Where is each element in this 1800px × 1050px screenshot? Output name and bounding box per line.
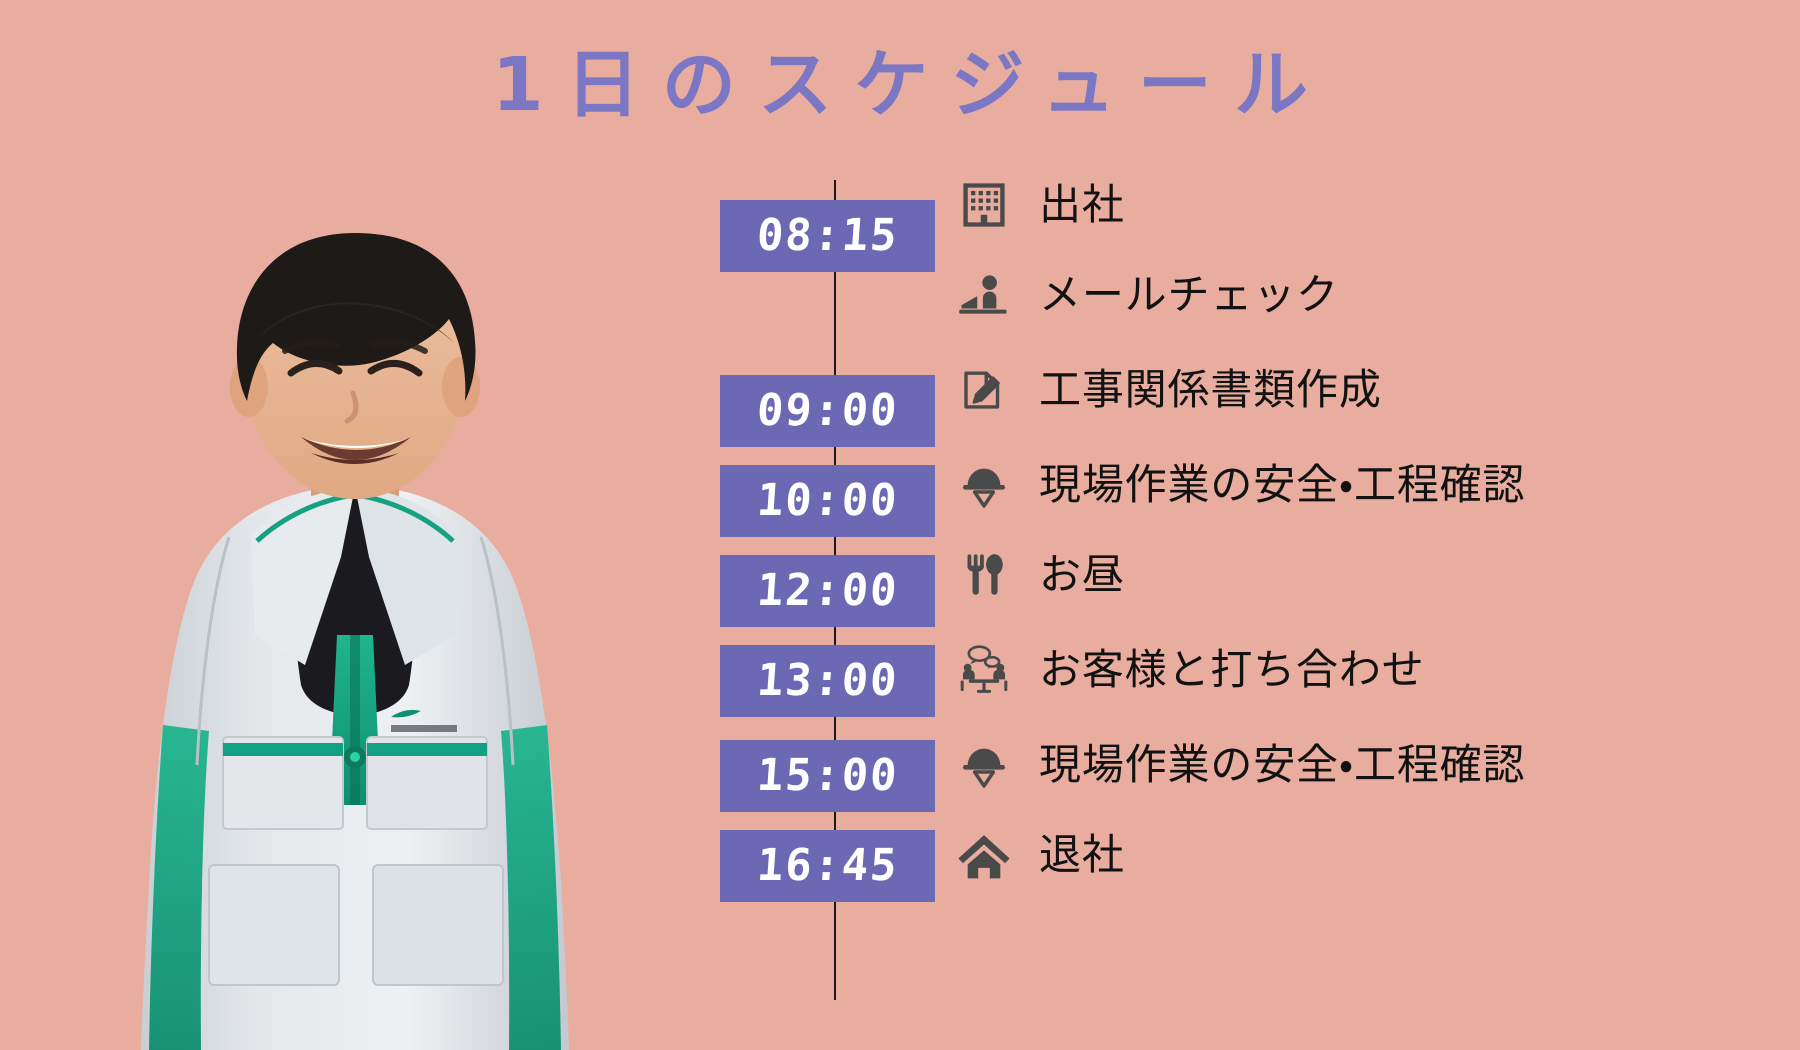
time-text: 10:00 xyxy=(755,479,899,523)
schedule-item-site-check-pm[interactable]: 現場作業の安全・工程確認 xyxy=(955,735,1525,795)
office-building-icon xyxy=(955,176,1013,234)
schedule-item-arrive[interactable]: 出社 xyxy=(955,175,1125,235)
time-text: 15:00 xyxy=(755,754,899,798)
schedule-item-label: お昼 xyxy=(1039,554,1125,596)
schedule-item-site-check-am[interactable]: 現場作業の安全・工程確認 xyxy=(955,455,1525,515)
employee-photo-illustration xyxy=(105,165,605,1050)
time-text: 12:00 xyxy=(755,569,899,613)
time-text: 09:00 xyxy=(755,389,899,433)
schedule-item-label: お客様と打ち合わせ xyxy=(1039,649,1425,691)
schedule-item-leave[interactable]: 退社 xyxy=(955,825,1125,885)
document-pencil-icon xyxy=(955,361,1013,419)
employee-photo xyxy=(105,165,605,1050)
timeline: 08:15 09:00 10:00 12:00 13:00 15:00 16:4… xyxy=(720,180,950,1000)
page-title: 1日のスケジュール xyxy=(0,45,1800,126)
cutlery-icon xyxy=(955,546,1013,604)
time-badge-1300[interactable]: 13:00 xyxy=(720,645,935,717)
hard-hat-icon xyxy=(955,456,1013,514)
time-badge-1200[interactable]: 12:00 xyxy=(720,555,935,627)
time-badge-1645[interactable]: 16:45 xyxy=(720,830,935,902)
schedule-item-label: 現場作業の安全・工程確認 xyxy=(1039,464,1525,506)
schedule-item-label: 現場作業の安全・工程確認 xyxy=(1039,744,1525,786)
schedule-item-documents[interactable]: 工事関係書類作成 xyxy=(955,360,1382,420)
time-badge-0815[interactable]: 08:15 xyxy=(720,200,935,272)
schedule-item-label: メールチェック xyxy=(1039,274,1339,316)
time-badge-0900[interactable]: 09:00 xyxy=(720,375,935,447)
time-text: 13:00 xyxy=(755,659,899,703)
house-icon xyxy=(955,826,1013,884)
meeting-table-icon xyxy=(955,641,1013,699)
time-text: 16:45 xyxy=(755,844,899,888)
schedule-item-lunch[interactable]: お昼 xyxy=(955,545,1125,605)
schedule-infographic: 1日のスケジュール xyxy=(0,0,1800,1050)
schedule-item-label: 工事関係書類作成 xyxy=(1039,369,1382,411)
schedule-item-label: 出社 xyxy=(1039,184,1125,226)
time-badge-1500[interactable]: 15:00 xyxy=(720,740,935,812)
schedule-item-label: 退社 xyxy=(1039,834,1125,876)
hard-hat-icon xyxy=(955,736,1013,794)
person-laptop-icon xyxy=(955,266,1013,324)
schedule-item-mail-check[interactable]: メールチェック xyxy=(955,265,1339,325)
time-badge-1000[interactable]: 10:00 xyxy=(720,465,935,537)
schedule-item-client-meeting[interactable]: お客様と打ち合わせ xyxy=(955,640,1425,700)
time-text: 08:15 xyxy=(755,214,899,258)
